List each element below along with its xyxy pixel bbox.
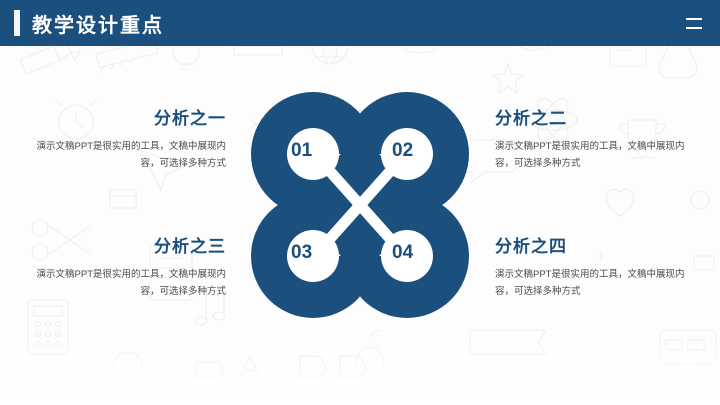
diagram-number-02: 02 — [392, 140, 413, 162]
hamburger-menu-icon[interactable] — [686, 18, 702, 29]
block-desc-2: 演示文稿PPT是很实用的工具，文稿中展现内容，可选择多种方式 — [495, 139, 691, 172]
block-desc-1: 演示文稿PPT是很实用的工具，文稿中展现内容，可选择多种方式 — [30, 139, 226, 172]
block-title-3: 分析之三 — [30, 232, 226, 257]
block-title-2: 分析之二 — [495, 104, 691, 129]
diagram-number-04: 04 — [392, 242, 413, 264]
block-analysis-four: 分析之四 演示文稿PPT是很实用的工具，文稿中展现内容，可选择多种方式 — [495, 232, 691, 300]
header-bar: 教学设计重点 — [0, 0, 720, 46]
slide: 教学设计重点 — [0, 0, 720, 405]
block-analysis-three: 分析之三 演示文稿PPT是很实用的工具，文稿中展现内容，可选择多种方式 — [30, 232, 226, 300]
diagram-number-01: 01 — [291, 140, 312, 162]
block-analysis-two: 分析之二 演示文稿PPT是很实用的工具，文稿中展现内容，可选择多种方式 — [495, 104, 691, 172]
block-title-4: 分析之四 — [495, 232, 691, 257]
bottom-fade-overlay — [0, 335, 720, 405]
block-desc-4: 演示文稿PPT是很实用的工具，文稿中展现内容，可选择多种方式 — [495, 267, 691, 300]
block-desc-3: 演示文稿PPT是很实用的工具，文稿中展现内容，可选择多种方式 — [30, 267, 226, 300]
four-lobe-diagram: 01 02 03 04 — [245, 78, 475, 328]
block-analysis-one: 分析之一 演示文稿PPT是很实用的工具，文稿中展现内容，可选择多种方式 — [30, 104, 226, 172]
header-accent-bar — [14, 10, 20, 36]
page-title: 教学设计重点 — [32, 9, 164, 38]
block-title-1: 分析之一 — [30, 104, 226, 129]
diagram-number-03: 03 — [291, 242, 312, 264]
